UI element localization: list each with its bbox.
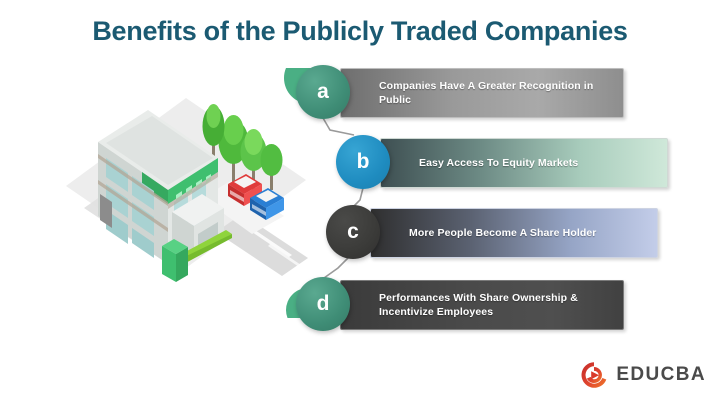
educba-logo[interactable]: EDUCBA (579, 360, 706, 390)
benefit-bar-d[interactable]: Performances With Share Ownership & Ince… (340, 280, 624, 330)
benefit-marker-a[interactable]: a (296, 65, 350, 119)
benefit-bar-a[interactable]: Companies Have A Greater Recognition in … (340, 68, 624, 118)
educba-wordmark: EDUCBA (616, 364, 706, 386)
benefits-list: Companies Have A Greater Recognition in … (296, 68, 622, 340)
benefit-bar-b[interactable]: Easy Access To Equity Markets (380, 138, 668, 188)
isometric-scene-svg (56, 68, 316, 318)
benefit-bar-c[interactable]: More People Become A Share Holder (370, 208, 658, 258)
benefit-text-d: Performances With Share Ownership & Ince… (341, 291, 623, 319)
benefit-text-b: Easy Access To Equity Markets (381, 156, 588, 170)
benefit-marker-c[interactable]: c (326, 205, 380, 259)
benefit-marker-d[interactable]: d (296, 277, 350, 331)
page-title: Benefits of the Publicly Traded Companie… (0, 16, 720, 47)
benefit-text-c: More People Become A Share Holder (371, 226, 607, 240)
benefit-text-a: Companies Have A Greater Recognition in … (341, 79, 623, 107)
benefit-marker-b[interactable]: b (336, 135, 390, 189)
educba-swirl-icon (579, 360, 609, 390)
office-building-illustration (56, 68, 316, 318)
